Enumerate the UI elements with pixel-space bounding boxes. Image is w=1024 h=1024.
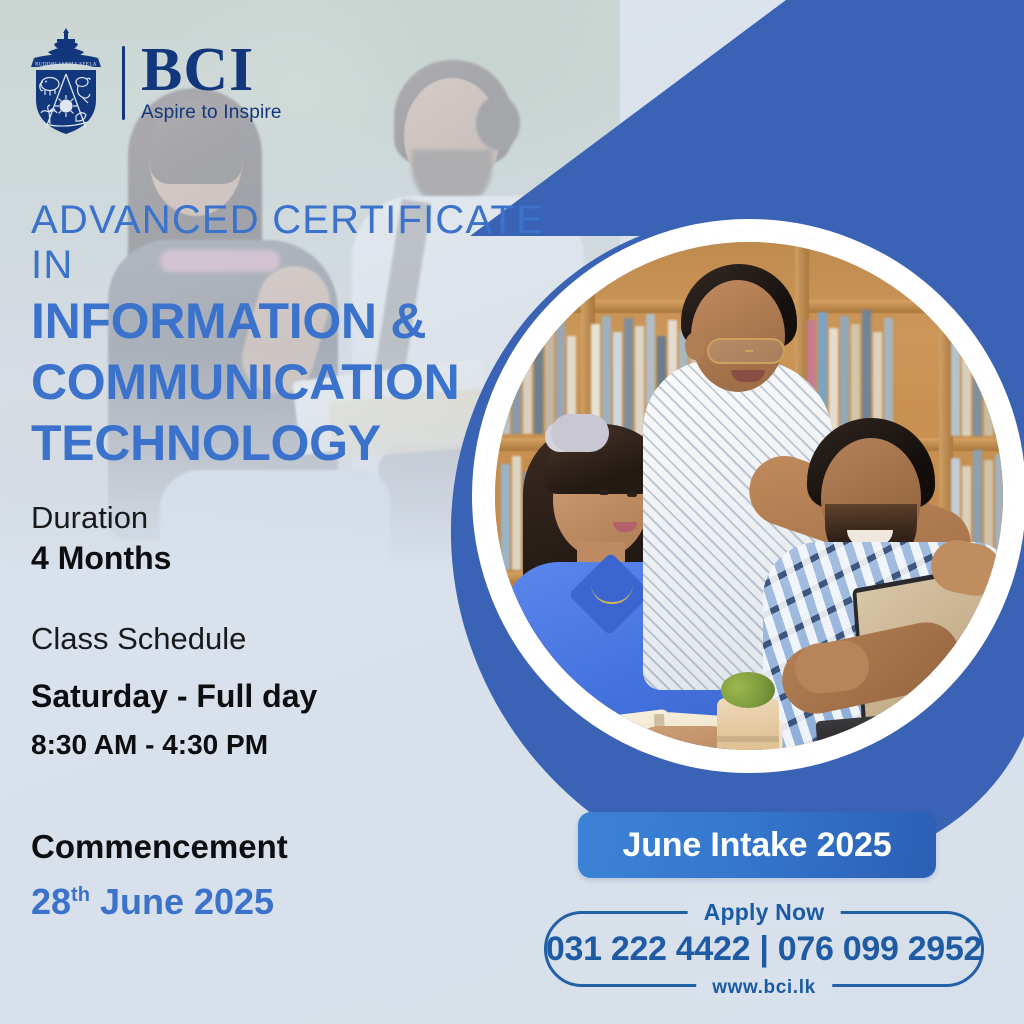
schedule-label: Class Schedule	[31, 619, 317, 659]
commencement-ordinal: th	[71, 884, 90, 906]
logo-divider	[122, 46, 125, 120]
schedule-time: 8:30 AM - 4:30 PM	[31, 727, 317, 763]
website-url[interactable]: www.bci.lk	[696, 977, 832, 999]
headline-line-4: TECHNOLOGY	[31, 416, 591, 471]
commencement-day: 28	[31, 881, 71, 922]
duration-label: Duration	[31, 498, 317, 538]
headline-line-3: COMMUNICATION	[31, 355, 591, 410]
duration-value: 4 Months	[31, 538, 317, 579]
june-intake-label: June Intake 2025	[623, 826, 892, 865]
svg-text:BUDDHI JANMA SEELA: BUDDHI JANMA SEELA	[35, 63, 97, 68]
course-headline: ADVANCED CERTIFICATE IN INFORMATION & CO…	[31, 198, 591, 471]
poster-canvas: BUDDHI JANMA SEELA	[0, 0, 1024, 1024]
bci-crest-icon: BUDDHI JANMA SEELA	[24, 24, 108, 141]
headline-line-1: ADVANCED CERTIFICATE IN	[31, 198, 591, 288]
logo-tagline: Aspire to Inspire	[141, 102, 282, 124]
phone-numbers[interactable]: 031 222 4422 | 076 099 2952	[547, 914, 981, 984]
bci-logo: BUDDHI JANMA SEELA	[24, 24, 282, 141]
commencement-date: 28th June 2025	[31, 879, 288, 926]
schedule-value: Saturday - Full day	[31, 676, 317, 717]
contact-box: Apply Now 031 222 4422 | 076 099 2952 ww…	[544, 911, 984, 987]
commencement-label: Commencement	[31, 826, 288, 867]
course-details: Duration 4 Months Class Schedule Saturda…	[31, 498, 317, 764]
commencement-block: Commencement 28th June 2025	[31, 826, 288, 926]
logo-wordmark: BCI	[141, 41, 282, 99]
headline-line-2: INFORMATION &	[31, 294, 591, 349]
commencement-month-year: June 2025	[100, 881, 274, 922]
june-intake-badge[interactable]: June Intake 2025	[578, 812, 936, 878]
